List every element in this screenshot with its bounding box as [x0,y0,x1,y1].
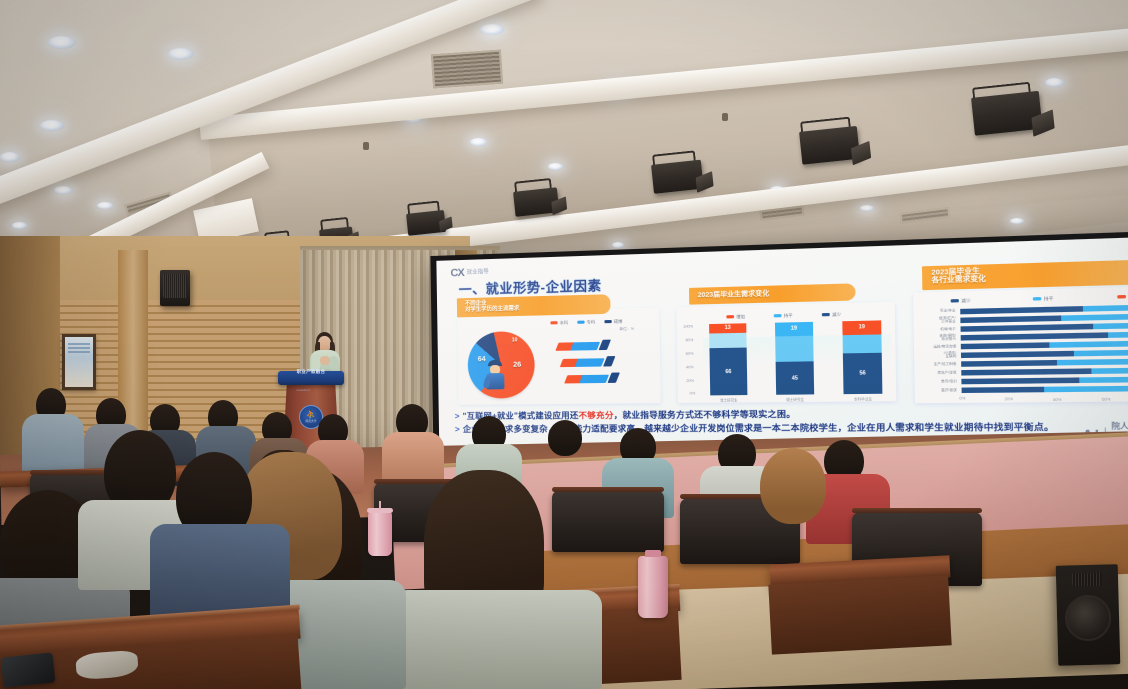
hseg-flat [1093,322,1128,330]
bar-segment-decrease: 45 [776,362,815,395]
legend-item: 持平 [1033,296,1054,303]
legend-label: 硕博 [614,319,623,324]
bullet-marker: > [455,412,460,421]
x-tick: 20% [1004,397,1013,401]
bar-segment-decrease: 56 [843,353,883,394]
legend-item: 本科 [550,320,568,327]
downlight [1045,78,1064,87]
segment-value: 66 [725,368,731,374]
bar-segment-flat [709,333,746,349]
wall-mounted-speaker [160,270,190,306]
bar-category-0: 博士研究生 [706,397,752,403]
hbar-chart-title: 2023届毕业生 各行业需求变化 [922,260,1128,291]
x-tick: 60% [1102,397,1111,402]
downlight [470,138,487,146]
bullet-highlight: 不够充分 [578,411,613,420]
hseg-flat [1044,385,1128,392]
downlight [168,48,194,60]
chair-rim [852,508,982,513]
audience-head [760,448,826,524]
hseg-flat [1091,367,1128,374]
y-tick: 60% [686,352,694,356]
segment-value: 19 [859,324,865,331]
bar-segment-increase: 19 [842,320,881,335]
book-icon [560,358,605,367]
downlight [0,152,20,162]
podium-nameplate-sub: UNIVERSITY [297,390,311,392]
sprinkler-icon [722,113,728,121]
stacked-bar-1: 19 45 [775,322,814,395]
downlight [12,222,27,229]
pie-chart-title: 不同企业 对学生学历的主流需求 [457,294,611,317]
hseg-flat [1107,331,1128,338]
podium-nameplate-text: 职业产教融合 [297,369,326,374]
hbar-label-4: 运输/物流仓储 [914,345,956,349]
tweeter-icon [1072,573,1102,587]
chair-rim [552,487,664,492]
downlight [40,120,64,131]
presentation-screen[interactable]: CX 就业指导 一、就业形势-企业因素 不同企业 对学生学历的主流需求 本科 专… [430,229,1128,468]
hbar-label-6: 生产/加工制造 [914,362,956,366]
legend-item: 减少 [822,312,841,319]
segment-value: 56 [859,370,865,377]
y-tick: 100% [683,324,693,328]
sprinkler-icon [363,142,369,150]
hseg-decrease [962,387,1044,393]
ai-logo-cn: 院人工智能 [1111,423,1128,431]
legend-item: 持平 [774,313,793,320]
bar-segment-increase: 19 [775,322,813,336]
pie-value-1: 26 [513,362,521,369]
bar-segment-decrease: 66 [709,348,747,396]
pie-unit-label: 单位：% [619,327,634,332]
water-bottle[interactable] [638,556,668,618]
hbar-label-9: 医疗/健康 [915,389,957,393]
legend-item: 增加 [726,314,745,321]
hbar-label-2: 机械/电子 [918,328,956,332]
legend-label: 专科 [587,319,595,324]
bar-segment-flat [775,336,813,363]
air-vent-icon [431,50,503,89]
pie-chart-title-text: 不同企业 对学生学历的主流需求 [465,301,520,314]
slide-content: CX 就业指导 一、就业形势-企业因素 不同企业 对学生学历的主流需求 本科 专… [436,235,1128,460]
hseg-flat [1057,359,1128,366]
audience-torso [22,414,84,474]
y-tick: 40% [686,365,694,369]
legend-label: 持平 [1044,296,1054,302]
stacked-bar-0: 13 66 [709,323,747,395]
lecture-hall-scene: CX 就业指导 一、就业形势-企业因素 不同企业 对学生学历的主流需求 本科 专… [0,0,1128,689]
bullet-text-suffix: ，就业指导服务方式还不够科学等现实之困。 [614,409,796,420]
legend-label: 本科 [560,320,568,325]
legend-label: 持平 [784,313,793,319]
x-tick: 40% [1053,398,1062,403]
pie-value-2: 10 [512,337,518,343]
drink-cup[interactable] [368,512,392,556]
downlight [48,36,76,49]
stacked-bar-title-text: 2023届毕业生需求变化 [698,291,770,300]
legend-item: 专科 [577,319,595,326]
hseg-flat [1074,349,1128,356]
x-tick: 0% [959,396,965,400]
hseg-flat [1050,340,1128,348]
stacked-bar-title: 2023届毕业生需求变化 [689,283,856,304]
downlight [860,205,874,211]
downlight [480,24,504,35]
bullet-marker: > [455,425,460,434]
legend-item: 硕博 [604,319,622,326]
y-tick: 0% [690,391,696,395]
book-icon [555,342,600,351]
desk-front [768,575,951,654]
podium-nameplate: 职业产教融合 UNIVERSITY [278,371,344,385]
legend-label: 增加 [736,314,745,319]
hbar-label-8: 教育/培训 [915,380,957,384]
emblem-figure-icon: ⛹ [306,411,316,419]
segment-value: 19 [791,326,797,333]
emblem-text: 师范大学 [305,419,316,423]
chair [552,490,664,552]
y-tick: 80% [685,338,693,342]
hbar-label-1: 能源/矿产/ 公共事业 [914,317,956,325]
legend-item: 增加 [1117,294,1128,301]
mascot-illustration [484,360,507,395]
downlight [548,163,563,170]
downlight [1010,218,1024,224]
slide-logo-mark: CX [450,267,463,279]
smartphone[interactable] [1,652,56,687]
downlight [612,242,624,248]
y-tick: 20% [686,379,694,383]
bar-segment-flat [843,334,882,353]
woofer-icon [1064,594,1111,641]
framed-poster [62,334,96,390]
legend-label: 减少 [961,298,971,304]
segment-value: 45 [792,375,798,381]
audience-torso [392,590,602,689]
hseg-flat [1079,376,1128,383]
downlight [54,186,72,194]
cup-straw [379,501,381,510]
book-icon [564,375,609,384]
segment-value: 13 [725,325,731,331]
downlight [97,202,113,209]
legend-label: 减少 [832,312,841,318]
bottle-cap [645,550,661,557]
slide-logo-text: 就业指导 [467,269,489,276]
hbar-label-5: IT/通讯/ 互联网 [914,352,956,360]
hbar-label-3: 金融/保险/ 投资银行 [914,334,956,342]
bar-category-1: 硕士研究生 [772,397,819,403]
bar-category-2: 本科毕业生 [839,396,887,402]
hseg-flat [1083,304,1128,311]
floor-loudspeaker [1056,564,1121,666]
stacked-bar-2: 19 56 [842,320,882,394]
hbar-chart-title-text: 2023届毕业生 各行业需求变化 [931,269,986,286]
hbar-label-7: 房地产/建筑 [914,371,956,375]
legend-item: 减少 [951,298,971,305]
